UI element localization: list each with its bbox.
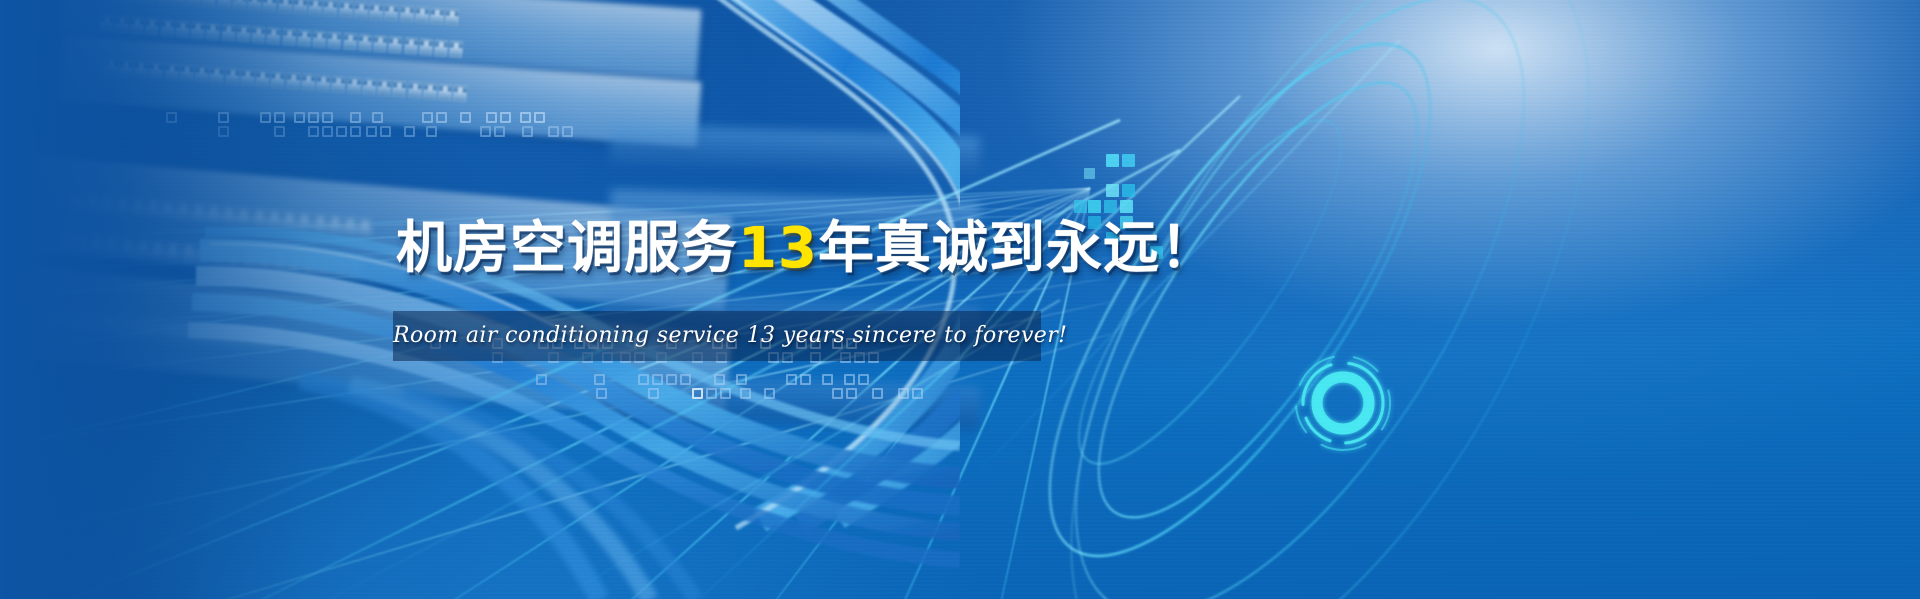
hero-banner: 机房空调服务13年真诚到永远！ Room air conditioning se… — [0, 0, 1920, 599]
page-title: 机房空调服务13年真诚到永远！ — [396, 203, 1217, 284]
headline-accent-years: 13 — [738, 216, 818, 281]
headline-prefix: 机房空调服务 — [396, 216, 738, 281]
headline-suffix: 年真诚到永远！ — [818, 216, 1217, 281]
page-subtitle: Room air conditioning service 13 years s… — [393, 311, 1041, 361]
